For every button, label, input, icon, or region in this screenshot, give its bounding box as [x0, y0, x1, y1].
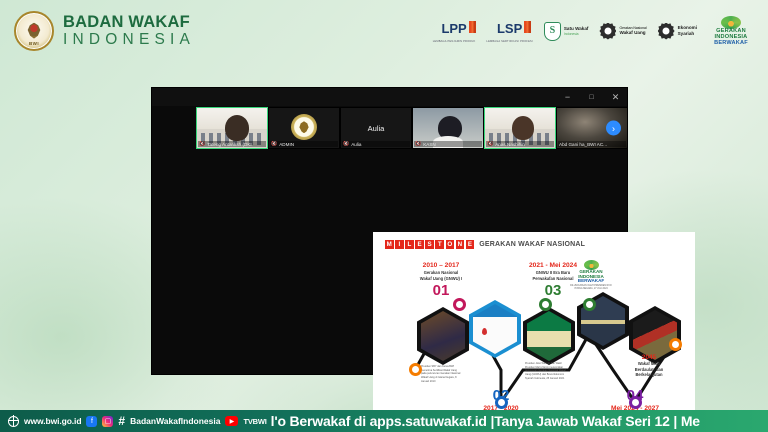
milestone-desc: Gerakan Nasional Wakaf Uang (GNWU) I [385, 270, 497, 281]
timeline-dot [495, 396, 508, 409]
satu-wakaf-logo: Satu Wakaf Indonesia [544, 22, 589, 41]
title-letter: E [466, 240, 475, 249]
milestone-label-01: 2010 – 2017 Gerakan Nasional Wakaf Uang … [385, 262, 497, 298]
website-url[interactable]: www.bwi.go.id [24, 416, 81, 426]
gerakan-nasional-wakaf-uang-logo: Gerakan Nasional Wakaf Uang [599, 23, 646, 40]
timeline-dot [409, 363, 422, 376]
shared-slide: M I L E S T O N E GERAKAN WAKAF NASIONAL [373, 232, 695, 432]
minimize-button[interactable]: − [562, 93, 573, 102]
gerakan-indonesia-berwakaf-logo: GERAKAN INDONESIA BERWAKAF [708, 16, 754, 46]
header-bar: BWI BADAN WAKAF INDONESIA LPP LEMBAGA PE… [0, 0, 768, 62]
instagram-icon[interactable]: ▢ [102, 416, 113, 427]
satu-wakaf-icon [544, 22, 561, 41]
close-button[interactable]: ✕ [610, 93, 621, 102]
participant-tile[interactable]: 🔇 Tateng Antariksh (DKI [196, 107, 268, 149]
title-letter: M [385, 240, 394, 249]
bwi-seal-icon: BWI [14, 11, 54, 51]
timeline-dot [669, 338, 682, 351]
news-ticker-bar: www.bwi.go.id f ▢ # BadanWakafIndonesia … [0, 410, 768, 432]
mic-muted-icon: 🔇 [271, 142, 277, 147]
satu-wakaf-line2: Indonesia [564, 32, 579, 36]
timeline-dot [453, 298, 466, 311]
participant-name: Abd Gani ha_BWI AC... [559, 142, 607, 147]
participant-tile[interactable]: 🔇 Anas Nashihin [484, 107, 556, 149]
milestone-caption-01: Presiden SBY dan Ketua BWI menerima Sert… [421, 365, 463, 383]
maximize-button[interactable]: □ [586, 94, 597, 101]
participant-tile[interactable]: Aulia 🔇 Aulia [340, 107, 412, 149]
zoom-meeting-window[interactable]: − □ ✕ 🔇 Tateng Antariksh (DKI 🔇 ADMIN Au… [151, 87, 628, 375]
slide-title: M I L E S T O N E GERAKAN WAKAF NASIONAL [385, 240, 695, 249]
timeline-dot [539, 298, 552, 311]
title-letter: I [395, 240, 404, 249]
endpoint-year: 2045 [621, 354, 677, 361]
window-titlebar: − □ ✕ [152, 88, 627, 106]
slide-subtitle: GERAKAN WAKAF NASIONAL [479, 241, 585, 248]
participant-name: KASN [423, 142, 436, 147]
social-handle[interactable]: BadanWakafIndonesia [130, 416, 220, 426]
milestone-caption-03: Presiden Joko Widodo dan Wakil Presiden … [525, 362, 571, 380]
timeline-dot [629, 396, 642, 409]
participant-name: Anas Nashihin [495, 142, 525, 147]
ticker-headline: l'o Berwakaf di apps.satuwakaf.id |Tanya… [271, 413, 700, 429]
gib-badge-sub: DILUNCURKAN OLEH PRESIDEN RI DI ISTANA N… [569, 285, 613, 291]
milestone-year: 2010 – 2017 [385, 262, 497, 269]
mic-muted-icon: 🔇 [343, 142, 349, 147]
partner-logos: LPP LEMBAGA PENJAMIN PRODUK LSP LEMBAGA … [433, 16, 754, 46]
hash-icon: # [118, 414, 125, 428]
brand-line2: INDONESIA [63, 32, 195, 48]
youtube-icon[interactable]: ▶ [225, 416, 238, 426]
bwi-brand: BWI BADAN WAKAF INDONESIA [14, 11, 195, 51]
gib-slide-badge: GERAKAN INDONESIA BERWAKAF DILUNCURKAN O… [569, 260, 613, 291]
seal-label: BWI [16, 41, 52, 46]
mic-muted-icon: 🔇 [199, 142, 205, 147]
milestone-letters: M I L E S T O N E [385, 240, 474, 249]
gib-badge-line3: BERWAKAF [569, 279, 613, 284]
endpoint-text: Wakaf Maju Berdaulat, dan Berkelanjutan [621, 361, 677, 378]
participant-name: Tateng Antariksh (DKI [207, 142, 251, 147]
timeline: 2010 – 2017 Gerakan Nasional Wakaf Uang … [373, 262, 695, 432]
facebook-icon[interactable]: f [86, 416, 97, 427]
eksyar-line2: Syariah [678, 31, 697, 37]
garuda-avatar-icon [291, 114, 317, 140]
map-pin-icon [482, 328, 487, 335]
lsp-mark: LSP [497, 21, 522, 36]
participant-tile[interactable]: 🔇 ADMIN [268, 107, 340, 149]
ticker-social-group: www.bwi.go.id f ▢ # BadanWakafIndonesia … [0, 414, 267, 428]
title-letter: N [456, 240, 465, 249]
lpp-sub: LEMBAGA PENJAMIN PRODUK [433, 40, 476, 43]
title-letter: E [415, 240, 424, 249]
participant-name: Aulia [351, 142, 361, 147]
globe-icon [8, 416, 19, 427]
participant-name: ADMIN [279, 142, 294, 147]
person-silhouette [225, 115, 249, 141]
next-participants-button[interactable]: › [606, 121, 621, 136]
title-letter: L [405, 240, 414, 249]
milestone-number: 01 [385, 283, 497, 298]
gib-line3: BERWAKAF [708, 41, 754, 47]
title-letter: S [425, 240, 434, 249]
mic-muted-icon: 🔇 [487, 142, 493, 147]
title-letter: O [446, 240, 455, 249]
lpp-mark: LPP [441, 21, 466, 36]
lpp-logo: LPP LEMBAGA PENJAMIN PRODUK [433, 20, 476, 43]
ekonomi-syariah-logo: Ekonomi Syariah [658, 23, 697, 40]
brand-line1: BADAN WAKAF [63, 14, 195, 31]
endpoint-label-2045: 2045 Wakaf Maju Berdaulat, dan Berkelanj… [621, 354, 677, 378]
lsp-logo: LSP LEMBAGA SERTIFIKASI PROFESI [486, 20, 532, 43]
gnwu-line2: Wakaf Uang [619, 30, 646, 36]
title-letter: T [435, 240, 444, 249]
timeline-dot [583, 298, 596, 311]
brand-text: BADAN WAKAF INDONESIA [63, 14, 195, 48]
gear-icon [658, 23, 675, 40]
participant-filmstrip[interactable]: 🔇 Tateng Antariksh (DKI 🔇 ADMIN Aulia 🔇 … [152, 106, 627, 150]
mic-muted-icon: 🔇 [415, 142, 421, 147]
lsp-sub: LEMBAGA SERTIFIKASI PROFESI [486, 40, 532, 43]
tv-label: TVBWI [243, 417, 266, 426]
gear-icon [599, 23, 616, 40]
participant-tile[interactable]: 🔇 KASN [412, 107, 484, 149]
person-silhouette [512, 116, 534, 140]
